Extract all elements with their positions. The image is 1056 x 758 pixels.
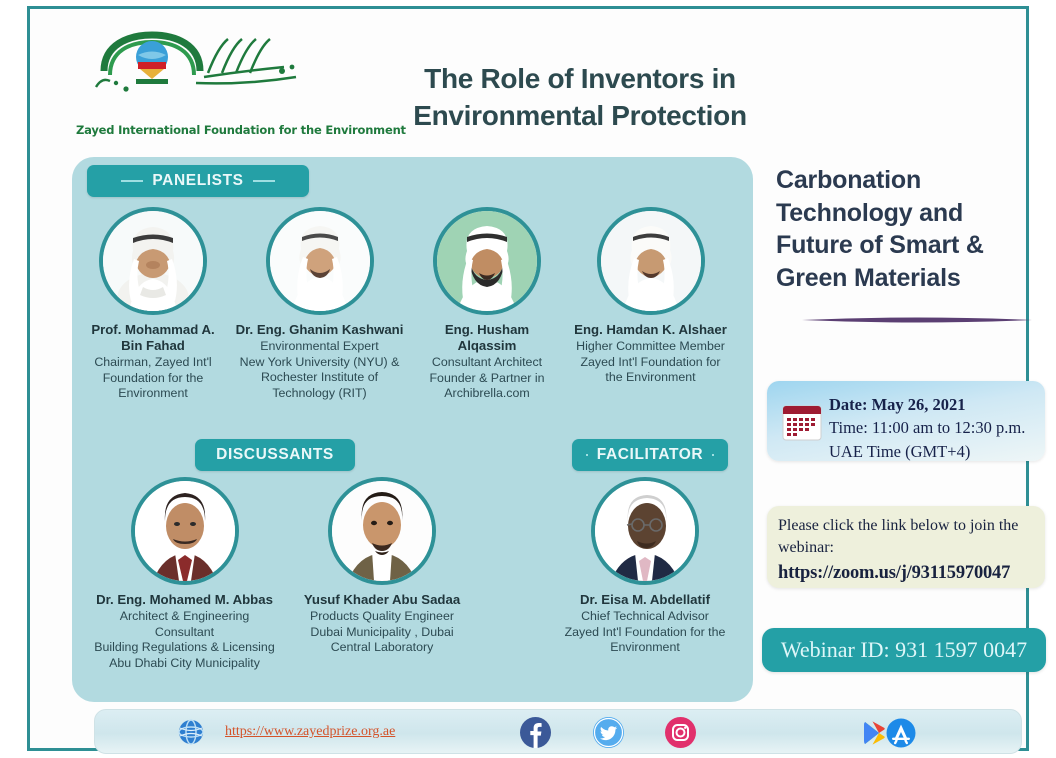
discussant-card: Yusuf Khader Abu Sadaa Products Quality … [292,477,472,656]
person-name: Eng. Hamdan K. Alshaer [558,322,743,338]
panelist-card: Eng. Hamdan K. Alshaer Higher Committee … [558,207,743,386]
join-link-box: Please click the link below to join the … [767,506,1045,588]
event-time: Time: 11:00 am to 12:30 p.m. [829,416,1037,439]
person-name: Eng. Husham Alqassim [412,322,562,354]
panelist-card: Dr. Eng. Ghanim Kashwani Environmental E… [227,207,412,402]
badge-dash-left [121,180,143,182]
avatar [99,207,207,315]
website-link[interactable]: https://www.zayedprize.org.ae [225,724,395,740]
globe-icon [177,718,205,746]
section-badge-panelists: PANELISTS [87,165,309,197]
foundation-name: Zayed International Foundation for the E… [76,123,326,137]
topic-line-1: Carbonation [776,164,1056,197]
person-role: Consultant Architect Founder & Partner i… [412,355,562,402]
date-time-box: Date: May 26, 2021 Time: 11:00 am to 12:… [767,381,1045,461]
calendar-icon [781,401,823,443]
person-role: Higher Committee Member Zayed Int'l Foun… [558,339,743,386]
person-role: Environmental Expert New York University… [227,339,412,402]
person-role: Products Quality Engineer Dubai Municipa… [292,609,472,656]
app-store-icon[interactable] [885,718,917,748]
panelists-label: PANELISTS [152,172,243,190]
poster-frame: Zayed International Foundation for the E… [27,6,1029,751]
person-name: Yusuf Khader Abu Sadaa [292,592,472,608]
discussant-card: Dr. Eng. Mohamed M. Abbas Architect & En… [92,477,277,672]
twitter-icon[interactable] [593,717,624,748]
facilitator-card: Dr. Eisa M. Abdellatif Chief Technical A… [550,477,740,656]
zoom-link[interactable]: https://zoom.us/j/93115970047 [778,561,1034,586]
panelist-card: Prof. Mohammad A. Bin Fahad Chairman, Za… [78,207,228,402]
facebook-icon[interactable] [520,717,551,748]
person-role: Architect & Engineering Consultant Build… [92,609,277,672]
person-name: Dr. Eng. Ghanim Kashwani [227,322,412,338]
panelist-card: Eng. Husham Alqassim Consultant Architec… [412,207,562,402]
event-timezone: UAE Time (GMT+4) [829,440,1037,463]
avatar [597,207,705,315]
person-name: Dr. Eng. Mohamed M. Abbas [92,592,277,608]
date-time-text: Date: May 26, 2021 Time: 11:00 am to 12:… [829,393,1037,463]
facilitator-label: FACILITATOR [597,446,703,464]
badge-dash-left [586,454,588,456]
avatar [433,207,541,315]
topic-line-2: Technology and [776,197,1056,230]
avatar [266,207,374,315]
webinar-id-text: Webinar ID: 931 1597 0047 [781,637,1027,663]
page-title: The Role of Inventors in Environmental P… [360,61,800,135]
instagram-icon[interactable] [665,717,696,748]
badge-dash-right [712,454,714,456]
webinar-topic: Carbonation Technology and Future of Sma… [776,164,1056,294]
avatar [328,477,436,585]
discussants-label: DISCUSSANTS [216,446,334,464]
avatar [131,477,239,585]
person-name: Dr. Eisa M. Abdellatif [550,592,740,608]
webinar-poster: Zayed International Foundation for the E… [0,0,1056,758]
topic-line-3: Future of Smart & [776,229,1056,262]
person-role: Chairman, Zayed Int'l Foundation for the… [78,355,228,402]
person-name: Prof. Mohammad A. Bin Fahad [78,322,228,354]
webinar-id-bar: Webinar ID: 931 1597 0047 [762,628,1046,672]
footer-bar: https://www.zayedprize.org.ae [94,709,1022,754]
avatar [591,477,699,585]
section-divider [802,317,1032,322]
join-instruction-line-1: Please click the link below to join the [778,515,1034,537]
badge-dash-right [253,180,275,182]
event-date: Date: May 26, 2021 [829,393,1037,416]
person-role: Chief Technical Advisor Zayed Int'l Foun… [550,609,740,656]
main-title-line-1: The Role of Inventors in [360,61,800,98]
zayed-foundation-emblem-icon [76,31,326,103]
foundation-logo: Zayed International Foundation for the E… [76,31,326,131]
section-badge-facilitator: FACILITATOR [572,439,728,471]
section-badge-discussants: DISCUSSANTS [195,439,355,471]
topic-line-4: Green Materials [776,262,1056,295]
main-title-line-2: Environmental Protection [360,98,800,135]
join-instruction-line-2: webinar: [778,537,1034,559]
